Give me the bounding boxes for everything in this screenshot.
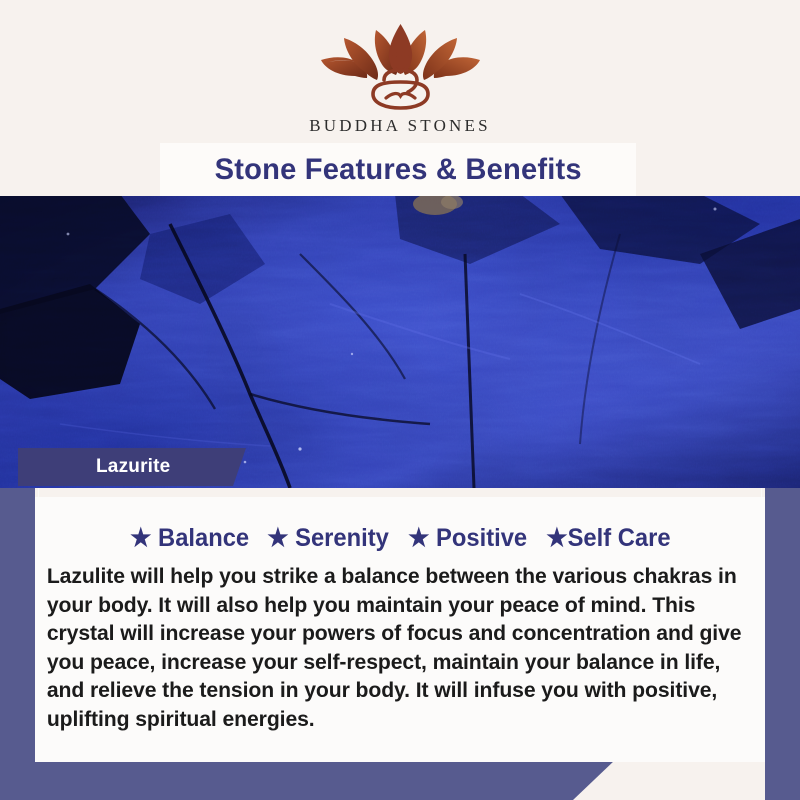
decorative-band-bottom — [0, 760, 615, 800]
stone-description: Lazulite will help you strike a balance … — [35, 562, 754, 734]
star-icon: ★ — [408, 524, 429, 552]
stone-texture-image — [0, 194, 800, 488]
brand-name: BUDDHA STONES — [0, 116, 800, 136]
title-plate: Stone Features & Benefits — [160, 143, 636, 196]
brand-logo-block: BUDDHA STONES — [0, 20, 800, 136]
benefit-label: Positive — [436, 524, 527, 552]
benefits-row: ★ Balance ★ Serenity ★ Positive ★Self Ca… — [35, 497, 765, 553]
stone-photo — [0, 194, 800, 488]
infographic-page: BUDDHA STONES Stone Features & Benefits — [0, 0, 800, 800]
star-icon: ★ — [268, 524, 289, 552]
content-sheet: ★ Balance ★ Serenity ★ Positive ★Self Ca… — [35, 497, 765, 762]
benefit-label: Self Care — [567, 524, 670, 552]
benefit-item-balance: ★ Balance — [130, 523, 249, 553]
benefit-item-self-care: ★Self Care — [546, 523, 670, 553]
star-icon: ★ — [130, 524, 151, 552]
benefit-item-positive: ★ Positive — [408, 523, 527, 553]
lotus-meditation-figure-icon — [313, 20, 488, 112]
benefit-label: Balance — [158, 524, 249, 552]
benefit-label: Serenity — [295, 524, 389, 552]
stone-name-banner: Lazurite — [18, 448, 246, 486]
stone-name-label: Lazurite — [96, 456, 170, 478]
star-icon: ★ — [546, 524, 567, 552]
page-title: Stone Features & Benefits — [214, 153, 581, 187]
benefit-item-serenity: ★ Serenity — [268, 523, 390, 553]
